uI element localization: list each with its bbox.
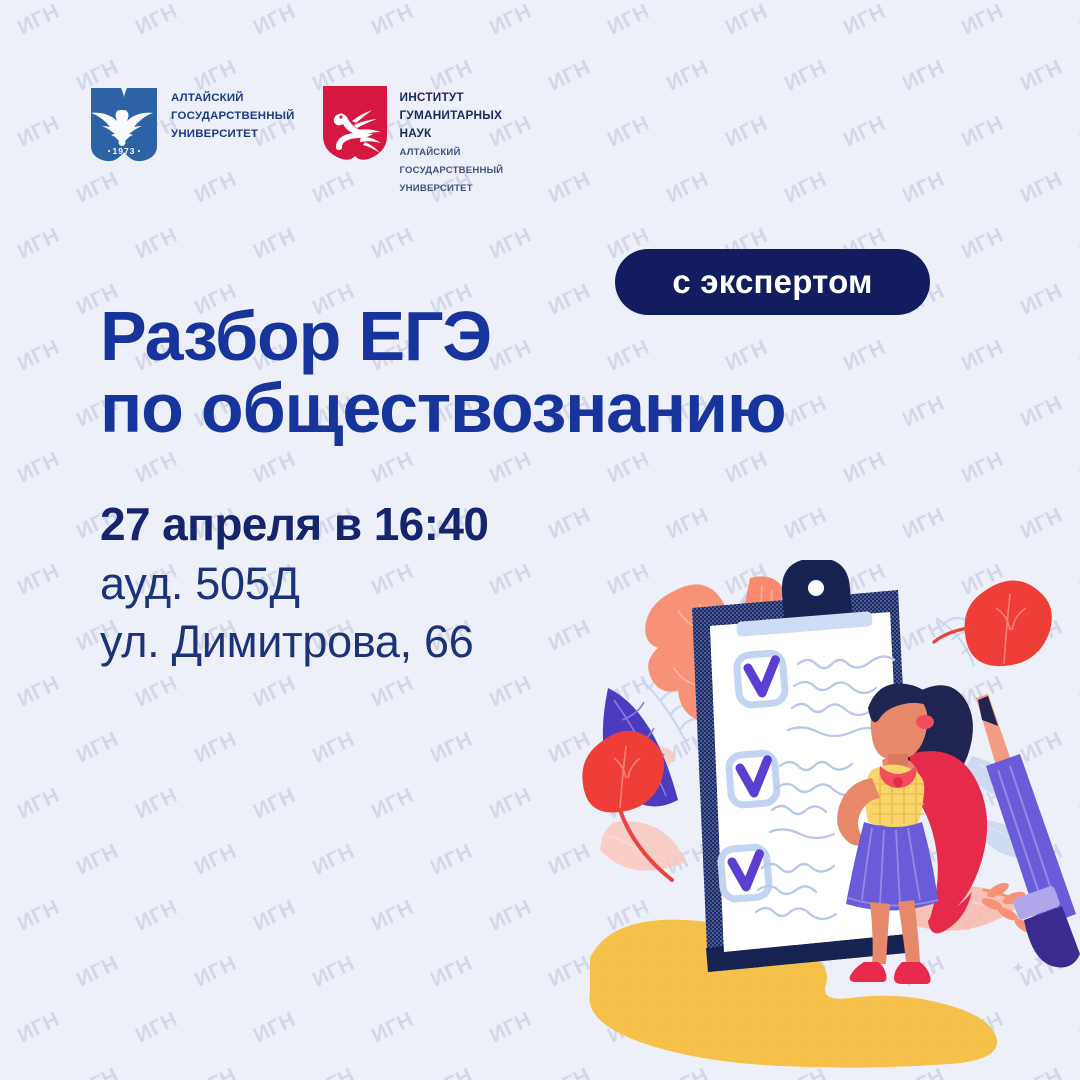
svg-text:1973: 1973 <box>113 146 136 156</box>
watermark-text: ИГН <box>368 672 418 713</box>
watermark-text: ИГН <box>0 280 5 321</box>
watermark-text: ИГН <box>368 448 418 489</box>
watermark-text: ИГН <box>14 0 64 40</box>
watermark-text: ИГН <box>1076 0 1080 40</box>
watermark-text: ИГН <box>427 728 477 769</box>
watermark-text: ИГН <box>545 56 595 97</box>
watermark-text: ИГН <box>14 448 64 489</box>
event-datetime: 27 апреля в 16:40 <box>100 497 488 551</box>
watermark-text: ИГН <box>250 672 300 713</box>
watermark-text: ИГН <box>250 0 300 40</box>
watermark-text: ИГН <box>250 1008 300 1049</box>
watermark-text: ИГН <box>427 840 477 881</box>
watermark-text: ИГН <box>958 112 1008 153</box>
watermark-text: ИГН <box>73 1064 123 1080</box>
ign-logo-sub-1: АЛТАЙСКИЙ <box>400 147 461 158</box>
ign-bird-shield-icon <box>321 84 389 169</box>
watermark-text: ИГН <box>0 728 5 769</box>
watermark-text: ИГН <box>722 448 772 489</box>
watermark-text: ИГН <box>14 224 64 265</box>
watermark-text: ИГН <box>1017 56 1067 97</box>
expert-badge: с экспертом <box>615 249 930 315</box>
watermark-text: ИГН <box>191 952 241 993</box>
watermark-text: ИГН <box>368 1008 418 1049</box>
watermark-text: ИГН <box>368 784 418 825</box>
watermark-text: ИГН <box>0 1064 5 1080</box>
asu-logo: 1973 АЛТАЙСКИЙ ГОСУДАРСТВЕННЫЙ УНИВЕРСИТ… <box>88 84 295 171</box>
watermark-text: ИГН <box>73 728 123 769</box>
watermark-text: ИГН <box>0 392 5 433</box>
watermark-text: ИГН <box>0 504 5 545</box>
asu-logo-line-1: АЛТАЙСКИЙ <box>171 92 244 104</box>
watermark-text: ИГН <box>604 112 654 153</box>
watermark-text: ИГН <box>663 56 713 97</box>
watermark-text: ИГН <box>250 448 300 489</box>
watermark-text: ИГН <box>486 448 536 489</box>
watermark-text: ИГН <box>899 392 949 433</box>
watermark-text: ИГН <box>1076 336 1080 377</box>
asu-logo-text: АЛТАЙСКИЙ ГОСУДАРСТВЕННЫЙ УНИВЕРСИТЕТ <box>171 84 295 142</box>
watermark-text: ИГН <box>14 112 64 153</box>
event-room: ауд. 505Д <box>100 555 488 613</box>
event-details: 27 апреля в 16:40 ауд. 505Д ул. Димитров… <box>100 497 488 670</box>
ign-logo-sub-3: УНИВЕРСИТЕТ <box>400 183 473 194</box>
watermark-text: ИГН <box>0 56 5 97</box>
ign-logo-subtext: АЛТАЙСКИЙ ГОСУДАРСТВЕННЫЙ УНИВЕРСИТЕТ <box>400 142 504 195</box>
watermark-text: ИГН <box>368 896 418 937</box>
watermark-text: ИГН <box>0 616 5 657</box>
watermark-text: ИГН <box>840 0 890 40</box>
watermark-text: ИГН <box>14 560 64 601</box>
ign-logo-text: ИНСТИТУТ ГУМАНИТАРНЫХ НАУК АЛТАЙСКИЙ ГОС… <box>400 84 504 196</box>
watermark-text: ИГН <box>309 952 359 993</box>
watermark-text: ИГН <box>545 168 595 209</box>
watermark-text: ИГН <box>73 952 123 993</box>
watermark-text: ИГН <box>486 224 536 265</box>
watermark-text: ИГН <box>132 672 182 713</box>
watermark-text: ИГН <box>1017 168 1067 209</box>
watermark-text: ИГН <box>958 0 1008 40</box>
watermark-text: ИГН <box>486 784 536 825</box>
watermark-text: ИГН <box>132 224 182 265</box>
watermark-text: ИГН <box>132 784 182 825</box>
watermark-text: ИГН <box>73 840 123 881</box>
watermark-text: ИГН <box>663 168 713 209</box>
ign-logo-sub-2: ГОСУДАРСТВЕННЫЙ <box>400 165 504 176</box>
watermark-text: ИГН <box>14 896 64 937</box>
watermark-text: ИГН <box>486 896 536 937</box>
watermark-text: ИГН <box>899 504 949 545</box>
watermark-text: ИГН <box>781 392 831 433</box>
watermark-text: ИГН <box>840 448 890 489</box>
watermark-text: ИГН <box>14 1008 64 1049</box>
watermark-text: ИГН <box>604 0 654 40</box>
ign-logo-line-1: ИНСТИТУТ <box>400 90 464 104</box>
watermark-text: ИГН <box>309 728 359 769</box>
logo-bar: 1973 АЛТАЙСКИЙ ГОСУДАРСТВЕННЫЙ УНИВЕРСИТ… <box>88 84 503 196</box>
watermark-text: ИГН <box>486 560 536 601</box>
watermark-text: ИГН <box>132 1008 182 1049</box>
watermark-text: ИГН <box>191 728 241 769</box>
asu-eagle-shield-icon: 1973 <box>88 84 160 171</box>
watermark-text: ИГН <box>486 1008 536 1049</box>
watermark-text: ИГН <box>368 224 418 265</box>
watermark-text: ИГН <box>1076 112 1080 153</box>
poster-canvas: ИГНИГНИГНИГНИГНИГНИГНИГНИГНИГНИГНИГНИГНИ… <box>0 0 1080 1080</box>
watermark-text: ИГН <box>486 672 536 713</box>
watermark-text: ИГН <box>781 168 831 209</box>
headline-line-2: по обществознанию <box>100 372 785 444</box>
watermark-text: ИГН <box>781 56 831 97</box>
watermark-text: ИГН <box>958 336 1008 377</box>
watermark-text: ИГН <box>1017 392 1067 433</box>
watermark-text: ИГН <box>958 448 1008 489</box>
watermark-text: ИГН <box>191 840 241 881</box>
watermark-text: ИГН <box>427 1064 477 1080</box>
expert-badge-label: с экспертом <box>672 265 872 298</box>
watermark-text: ИГН <box>14 672 64 713</box>
watermark-text: ИГН <box>722 0 772 40</box>
watermark-text: ИГН <box>1017 504 1067 545</box>
watermark-text: ИГН <box>899 168 949 209</box>
asu-logo-line-3: УНИВЕРСИТЕТ <box>171 128 258 140</box>
watermark-text: ИГН <box>309 1064 359 1080</box>
watermark-text: ИГН <box>0 952 5 993</box>
ign-logo: ИНСТИТУТ ГУМАНИТАРНЫХ НАУК АЛТАЙСКИЙ ГОС… <box>321 84 504 196</box>
watermark-text: ИГН <box>427 952 477 993</box>
page-title: Разбор ЕГЭ по обществознанию <box>100 300 785 444</box>
watermark-text: ИГН <box>309 840 359 881</box>
watermark-text: ИГН <box>722 112 772 153</box>
watermark-text: ИГН <box>840 112 890 153</box>
ign-logo-line-3: НАУК <box>400 126 432 140</box>
watermark-text: ИГН <box>368 0 418 40</box>
watermark-text: ИГН <box>132 0 182 40</box>
watermark-text: ИГН <box>14 784 64 825</box>
watermark-text: ИГН <box>899 56 949 97</box>
checklist-illustration <box>580 560 1080 1080</box>
asu-logo-line-2: ГОСУДАРСТВЕННЫЙ <box>171 110 295 122</box>
watermark-text: ИГН <box>191 1064 241 1080</box>
watermark-text: ИГН <box>0 168 5 209</box>
watermark-text: ИГН <box>663 504 713 545</box>
watermark-text: ИГН <box>1076 448 1080 489</box>
watermark-text: ИГН <box>840 336 890 377</box>
event-address: ул. Димитрова, 66 <box>100 613 488 671</box>
watermark-text: ИГН <box>250 784 300 825</box>
watermark-text: ИГН <box>0 840 5 881</box>
watermark-text: ИГН <box>545 504 595 545</box>
watermark-text: ИГН <box>14 336 64 377</box>
watermark-text: ИГН <box>1076 224 1080 265</box>
watermark-text: ИГН <box>250 896 300 937</box>
watermark-text: ИГН <box>781 504 831 545</box>
ign-logo-line-2: ГУМАНИТАРНЫХ <box>400 108 503 122</box>
watermark-text: ИГН <box>486 0 536 40</box>
watermark-text: ИГН <box>132 896 182 937</box>
watermark-text: ИГН <box>132 448 182 489</box>
watermark-text: ИГН <box>1017 280 1067 321</box>
watermark-text: ИГН <box>604 448 654 489</box>
watermark-text: ИГН <box>250 224 300 265</box>
watermark-text: ИГН <box>958 224 1008 265</box>
